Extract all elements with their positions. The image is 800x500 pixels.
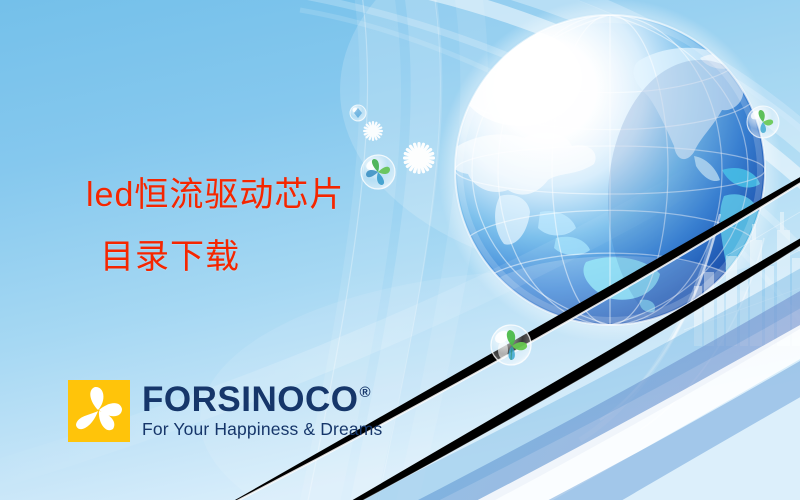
headline-line-2: 目录下载: [86, 226, 344, 288]
sparkle-small: [363, 121, 383, 141]
bubble-pinwheel-right: [747, 106, 779, 138]
bubble-pinwheel-mid: [361, 155, 395, 189]
pinwheel-petals-svg: [68, 380, 130, 442]
logo-wordmark: FORSINOCO ® For Your Happiness & Dreams: [142, 383, 382, 439]
registered-trademark-icon: ®: [359, 385, 370, 400]
logo-tagline: For Your Happiness & Dreams: [142, 421, 382, 439]
logo-name: FORSINOCO: [142, 383, 358, 417]
headline-line-1: led恒流驱动芯片: [86, 176, 344, 214]
bubble-small-top: [350, 105, 366, 121]
four-petal-pinwheel-icon: [68, 380, 130, 442]
headline-text: led恒流驱动芯片 目录下载: [86, 164, 344, 288]
bubble-leaf-lower: [491, 325, 531, 365]
company-logo[interactable]: FORSINOCO ® For Your Happiness & Dreams: [68, 380, 382, 442]
promo-banner: led恒流驱动芯片 目录下载 FORSINOCO ® For Your Happ…: [0, 0, 800, 500]
logo-name-row: FORSINOCO ®: [142, 383, 382, 417]
